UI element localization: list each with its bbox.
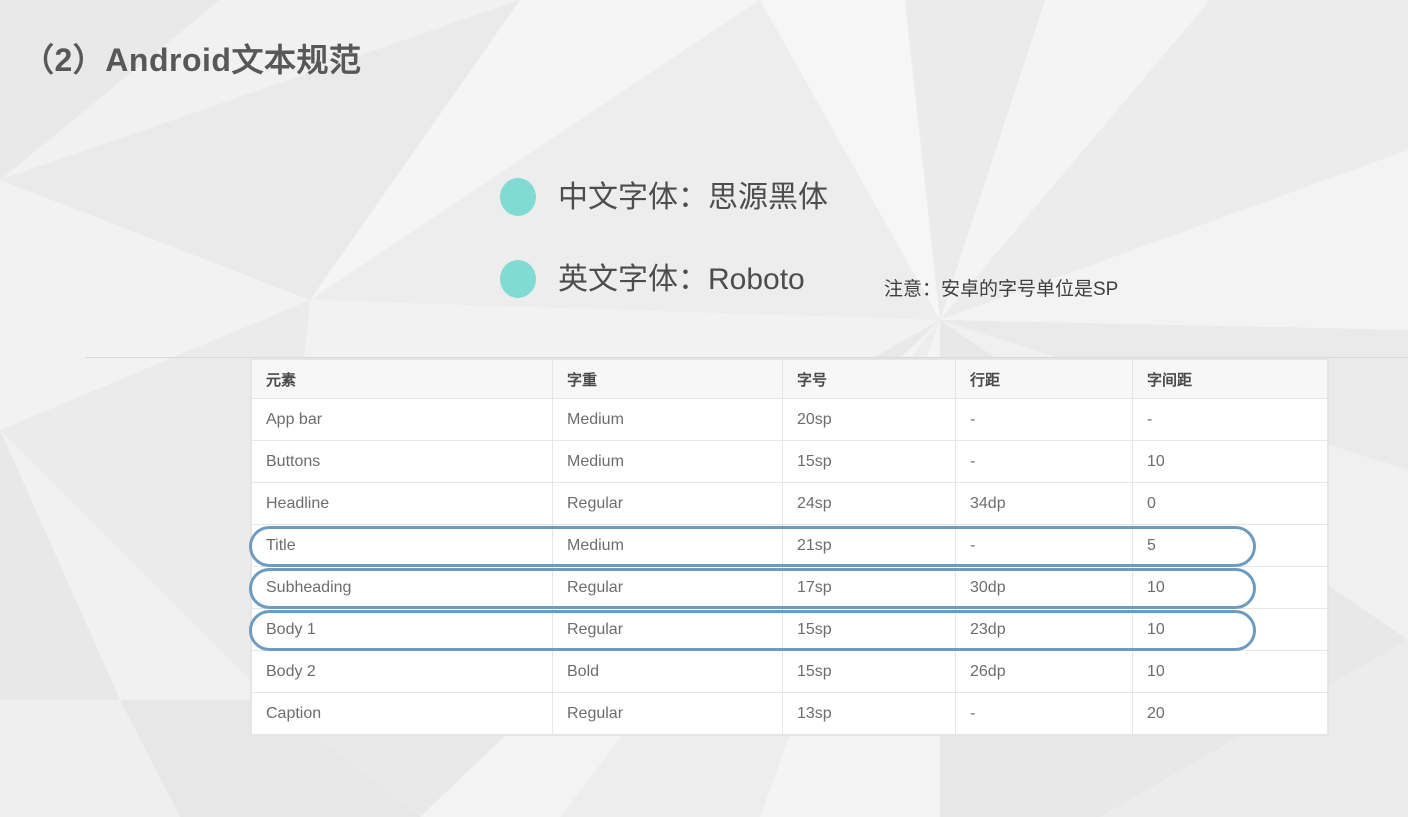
cell-weight: Regular [553, 483, 783, 525]
cell-size: 15sp [783, 441, 956, 483]
cell-weight: Regular [553, 609, 783, 651]
cell-line-height: 23dp [956, 609, 1133, 651]
table-row: App bar Medium 20sp - - [252, 399, 1328, 441]
horizontal-divider [85, 357, 1408, 358]
table-row-highlighted: Body 1 Regular 15sp 23dp 10 [252, 609, 1328, 651]
page-title: （2）Android文本规范 [22, 35, 361, 81]
cell-size: 15sp [783, 609, 956, 651]
table-header-row: 元素 字重 字号 行距 字间距 [252, 360, 1328, 399]
table-row: Body 2 Bold 15sp 26dp 10 [252, 651, 1328, 693]
cell-weight: Regular [553, 567, 783, 609]
cell-line-height: - [956, 441, 1133, 483]
cell-line-height: 26dp [956, 651, 1133, 693]
slide-canvas: （2）Android文本规范 中文字体：思源黑体 英文字体：Roboto 注意：… [0, 0, 1408, 817]
cell-size: 15sp [783, 651, 956, 693]
cell-element: Buttons [252, 441, 553, 483]
column-header-line-height: 行距 [956, 360, 1133, 399]
cell-letter-spacing: - [1133, 399, 1328, 441]
note-text: 注意：安卓的字号单位是SP [884, 274, 1118, 301]
cell-letter-spacing: 5 [1133, 525, 1328, 567]
table-header: 元素 字重 字号 行距 字间距 [252, 360, 1328, 399]
bullet-item-english-font: 英文字体：Roboto [500, 260, 805, 298]
bullet-dot-icon [500, 178, 536, 216]
cell-weight: Bold [553, 651, 783, 693]
cell-letter-spacing: 10 [1133, 567, 1328, 609]
table-row: Buttons Medium 15sp - 10 [252, 441, 1328, 483]
cell-line-height: 30dp [956, 567, 1133, 609]
cell-line-height: - [956, 399, 1133, 441]
cell-element: Caption [252, 693, 553, 735]
android-text-spec-table: 元素 字重 字号 行距 字间距 App bar Medium 20sp - - … [251, 359, 1328, 735]
cell-letter-spacing: 20 [1133, 693, 1328, 735]
cell-letter-spacing: 0 [1133, 483, 1328, 525]
cell-size: 24sp [783, 483, 956, 525]
cell-size: 13sp [783, 693, 956, 735]
column-header-letter-spacing: 字间距 [1133, 360, 1328, 399]
cell-element: Subheading [252, 567, 553, 609]
bullet-label: 中文字体：思源黑体 [558, 181, 828, 214]
bullet-label: 英文字体：Roboto [558, 263, 805, 296]
cell-element: Headline [252, 483, 553, 525]
cell-element: Title [252, 525, 553, 567]
cell-size: 20sp [783, 399, 956, 441]
cell-weight: Medium [553, 441, 783, 483]
cell-element: Body 1 [252, 609, 553, 651]
cell-letter-spacing: 10 [1133, 609, 1328, 651]
bullet-dot-icon [500, 260, 536, 298]
table-row: Caption Regular 13sp - 20 [252, 693, 1328, 735]
cell-line-height: 34dp [956, 483, 1133, 525]
cell-weight: Medium [553, 399, 783, 441]
cell-letter-spacing: 10 [1133, 651, 1328, 693]
cell-letter-spacing: 10 [1133, 441, 1328, 483]
column-header-size: 字号 [783, 360, 956, 399]
bullet-item-chinese-font: 中文字体：思源黑体 [500, 178, 828, 216]
table-body: App bar Medium 20sp - - Buttons Medium 1… [252, 399, 1328, 735]
table-row: Headline Regular 24sp 34dp 0 [252, 483, 1328, 525]
cell-element: App bar [252, 399, 553, 441]
column-header-weight: 字重 [553, 360, 783, 399]
table-row-highlighted: Subheading Regular 17sp 30dp 10 [252, 567, 1328, 609]
cell-weight: Medium [553, 525, 783, 567]
spec-table-container: 元素 字重 字号 行距 字间距 App bar Medium 20sp - - … [251, 359, 1252, 735]
cell-weight: Regular [553, 693, 783, 735]
cell-line-height: - [956, 693, 1133, 735]
cell-element: Body 2 [252, 651, 553, 693]
cell-size: 17sp [783, 567, 956, 609]
cell-line-height: - [956, 525, 1133, 567]
cell-size: 21sp [783, 525, 956, 567]
table-row-highlighted: Title Medium 21sp - 5 [252, 525, 1328, 567]
column-header-element: 元素 [252, 360, 553, 399]
